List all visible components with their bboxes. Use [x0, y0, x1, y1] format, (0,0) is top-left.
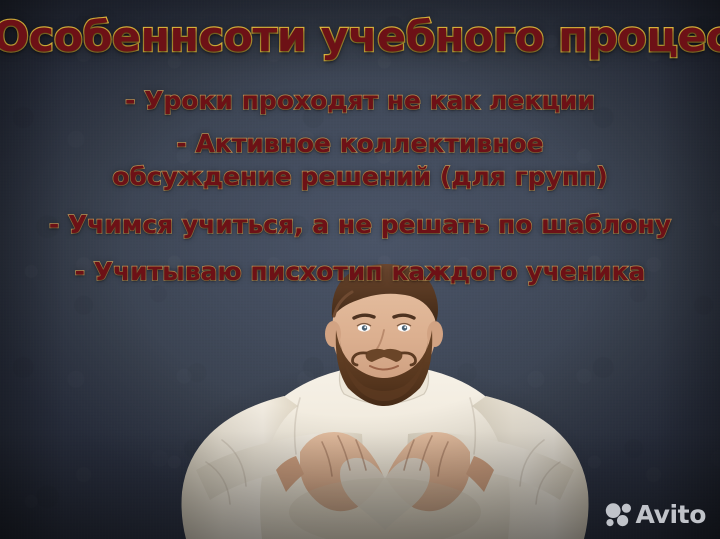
avito-wordmark: Avito — [636, 502, 706, 527]
avito-dots-logo — [605, 502, 632, 527]
avito-watermark: Avito — [605, 502, 706, 527]
bullet-item-3: обсуждение решений (для групп) — [0, 160, 720, 194]
bullet-item-1: - Уроки проходят не как лекции — [0, 84, 720, 118]
bullet-item-4: - Учимся учиться, а не решать по шаблону — [0, 208, 720, 242]
bullet-list: - Уроки проходят не как лекции - Активно… — [0, 84, 720, 289]
poster-canvas: Особеннсоти учебного процесса - Уроки пр… — [0, 0, 720, 539]
bullet-item-5: - Учитываю писхотип каждого ученика — [0, 255, 720, 289]
page-title: Особеннсоти учебного процесса — [0, 16, 720, 58]
bullet-item-2: - Активное коллективное — [0, 127, 720, 161]
text-overlay: Особеннсоти учебного процесса - Уроки пр… — [0, 0, 720, 539]
